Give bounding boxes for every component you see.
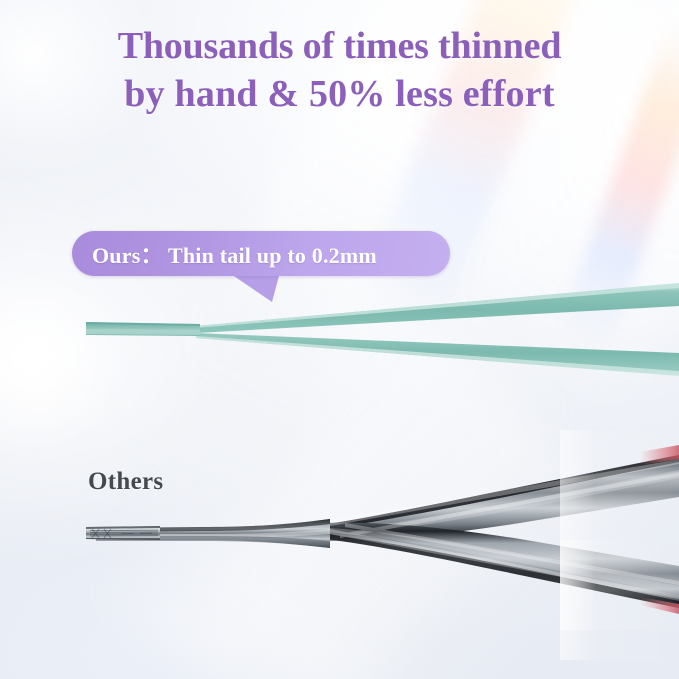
- ours-tweezers-tip: [86, 322, 200, 336]
- ours-tweezers-lower-arm: [196, 333, 679, 376]
- headline-line-1: Thousands of times thinned: [0, 22, 679, 70]
- others-tweezers-tip: [86, 526, 160, 540]
- ours-callout-badge: Ours： Thin tail up to 0.2mm: [72, 231, 450, 276]
- product-infographic: Thousands of times thinned by hand & 50%…: [0, 0, 679, 679]
- headline-line-2: by hand & 50% less effort: [0, 70, 679, 118]
- others-label: Others: [88, 468, 163, 496]
- callout-pointer-icon: [228, 272, 280, 302]
- callout-label: Ours： Thin tail up to 0.2mm: [72, 238, 377, 270]
- page-title: Thousands of times thinned by hand & 50%…: [0, 22, 679, 118]
- others-tweezers-illustration: [86, 430, 679, 660]
